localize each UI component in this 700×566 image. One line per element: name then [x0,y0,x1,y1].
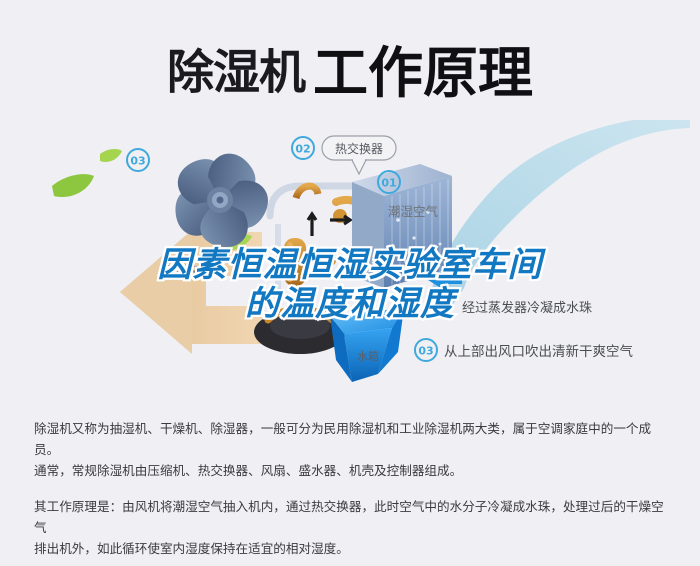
page-title-part-2: 工作原理 [313,41,533,105]
paragraph-2-line-2: 排出机外，如此循环使室内湿度保持在适宜的相对湿度。 [34,538,668,559]
dehumidifier-infographic-page: 除湿机工作原理 [0,0,700,566]
water-tank: 水箱 [330,308,404,382]
paragraph-spacer [34,481,668,496]
badge-02-heat-exchanger: 02 [292,137,314,159]
badge-03-dry-air: 03 [127,149,149,171]
badge-03b-outlet: 03 [415,339,437,361]
paragraph-1-line-1: 除湿机又称为抽湿机、干燥机、除湿器，一般可分为民用除湿机和工业除湿机两大类，属于… [34,418,668,460]
badge-02-label: 02 [295,143,310,156]
heat-exchanger-callout: 热交换器 [322,136,396,174]
page-title-part-1: 除湿机 [167,46,305,101]
dehumidifier-diagram: 水箱 03 干燥空气 02 热交换器 01 [0,120,700,390]
step-text-02: 经过蒸发器冷凝成水珠 [462,300,592,316]
dry-air-arrow [120,230,262,354]
page-title: 除湿机工作原理 [0,28,700,108]
water-tank-label: 水箱 [357,349,379,363]
badge-03b-label: 03 [418,345,433,358]
badge-03-label: 03 [130,155,145,168]
step-text-03: 从上部出风口吹出清新干爽空气 [444,344,633,360]
paragraph-2-line-1: 其工作原理是：由风机将潮湿空气抽入机内，通过热交换器，此时空气中的水分子冷凝成水… [34,496,668,538]
humid-air-label: 潮湿空气 [388,204,439,219]
humid-air-arrow [432,120,690,312]
badge-01-label: 01 [381,177,396,190]
paragraph-1-line-2: 通常，常规除湿机由压缩机、热交换器、风扇、盛水器、机壳及控制器组成。 [34,460,668,481]
heat-exchanger-label: 热交换器 [335,141,383,156]
body-copy: 除湿机又称为抽湿机、干燥机、除湿器，一般可分为民用除湿机和工业除湿机两大类，属于… [34,418,668,559]
dry-air-label: 干燥空气 [163,263,214,278]
